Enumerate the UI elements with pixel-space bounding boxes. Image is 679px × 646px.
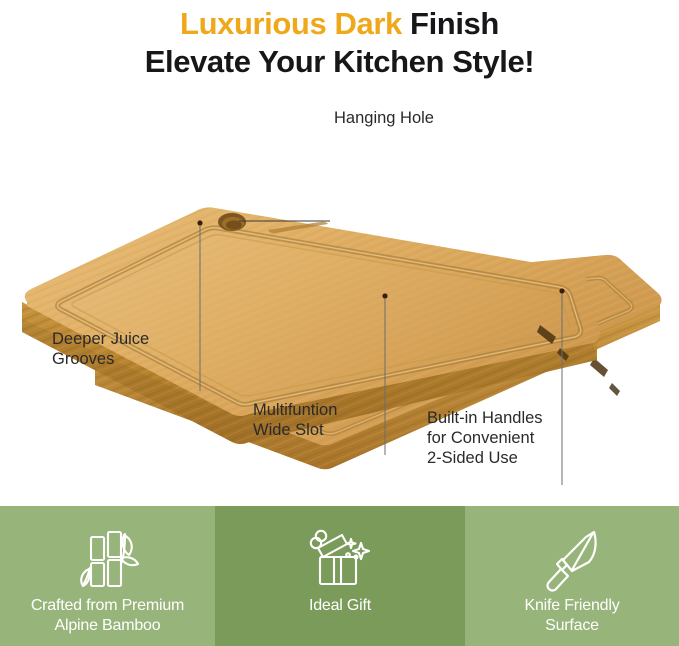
headline-line-1: Luxurious Dark Finish [0, 5, 679, 43]
callout-built-in-handles: Built-in Handles for Convenient 2-Sided … [427, 408, 543, 468]
headline-block: Luxurious Dark Finish Elevate Your Kitch… [0, 0, 679, 81]
knife-icon [536, 522, 608, 596]
built-in-handle-notch-lower [609, 383, 620, 396]
gift-icon [304, 522, 376, 596]
feature-label-knife: Knife Friendly Surface [518, 596, 625, 636]
leader-dot-wide-slot [382, 293, 387, 298]
feature-bar: Crafted from Premium Alpine Bamboo [0, 506, 679, 646]
callout-multifunction-wide-slot: Multifuntion Wide Slot [253, 400, 337, 440]
cutting-boards-illustration [0, 95, 679, 495]
product-image-stage [0, 95, 679, 495]
feature-cell-gift: Ideal Gift [215, 506, 465, 646]
bamboo-icon [72, 522, 144, 596]
hanging-hole-upper-shadow [226, 220, 242, 229]
feature-label-bamboo: Crafted from Premium Alpine Bamboo [25, 596, 190, 636]
headline-line-2: Elevate Your Kitchen Style! [0, 43, 679, 81]
product-infographic: Luxurious Dark Finish Elevate Your Kitch… [0, 0, 679, 646]
feature-cell-knife: Knife Friendly Surface [465, 506, 679, 646]
leader-dot-handles [559, 288, 564, 293]
feature-label-gift: Ideal Gift [303, 596, 377, 616]
headline-accent-text: Luxurious Dark [180, 6, 402, 41]
callout-hanging-hole: Hanging Hole [334, 108, 434, 128]
headline-line-1-rest: Finish [402, 6, 499, 41]
callout-deeper-juice-grooves: Deeper Juice Grooves [52, 329, 149, 369]
feature-cell-bamboo: Crafted from Premium Alpine Bamboo [0, 506, 215, 646]
leader-dot-juice-grooves [197, 220, 202, 225]
